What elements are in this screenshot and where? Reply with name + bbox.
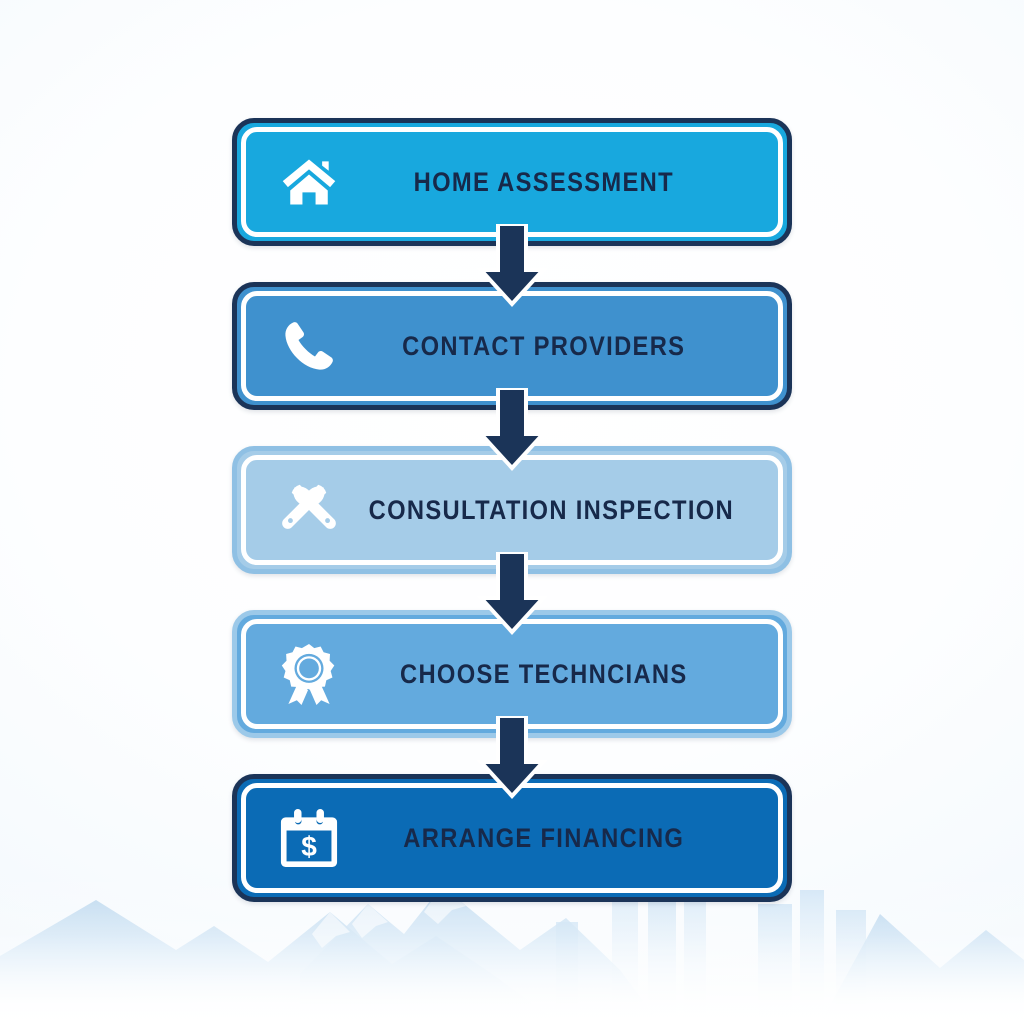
flow-step-label: CONSULTATION INSPECTION xyxy=(369,497,775,524)
crossed-wrenches-icon xyxy=(277,478,341,542)
mountain-range-right xyxy=(820,914,1024,1024)
down-arrow-icon xyxy=(477,388,547,472)
process-flow-list: HOME ASSESSMENT CONTACT PROVIDERS xyxy=(232,118,792,902)
flow-step-label: ARRANGE FINANCING xyxy=(368,825,760,852)
calendar-dollar-icon: $ xyxy=(277,806,341,870)
flow-step-label: HOME ASSESSMENT xyxy=(368,169,760,196)
connector-4-5 xyxy=(232,738,792,774)
phone-icon xyxy=(277,314,341,378)
award-ribbon-icon xyxy=(277,642,341,706)
flowchart-canvas: HOME ASSESSMENT CONTACT PROVIDERS xyxy=(0,0,1024,1024)
connector-2-3 xyxy=(232,410,792,446)
mountain-range-back xyxy=(0,900,560,1024)
svg-text:$: $ xyxy=(301,831,317,862)
connector-1-2 xyxy=(232,246,792,282)
house-icon xyxy=(277,150,341,214)
down-arrow-icon xyxy=(477,552,547,636)
flow-step-label: CONTACT PROVIDERS xyxy=(368,333,760,360)
connector-3-4 xyxy=(232,574,792,610)
flow-step-label: CHOOSE TECHNCIANS xyxy=(368,661,760,688)
down-arrow-icon xyxy=(477,224,547,308)
down-arrow-icon xyxy=(477,716,547,800)
mountain-range-mid xyxy=(300,886,660,1024)
